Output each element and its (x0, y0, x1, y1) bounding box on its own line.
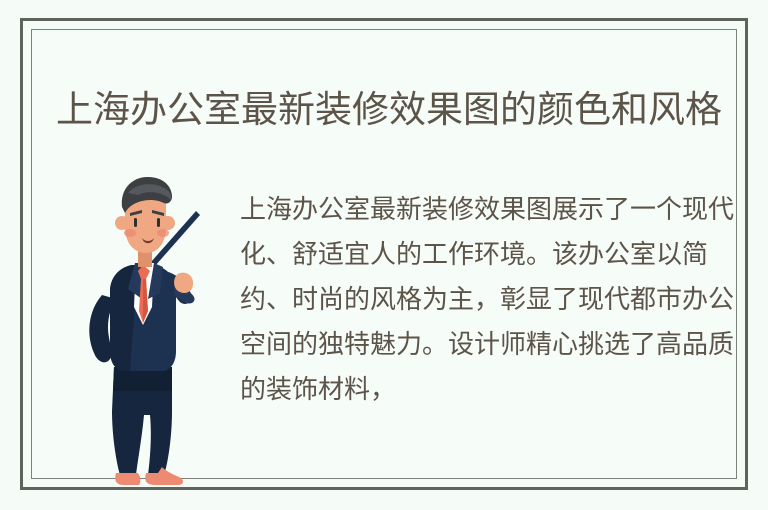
article-content-row: 上海办公室最新装修效果图展示了一个现代化、舒适宜人的工作环境。该办公室以简约、时… (56, 175, 726, 474)
article-body: 上海办公室最新装修效果图展示了一个现代化、舒适宜人的工作环境。该办公室以简约、时… (240, 187, 742, 412)
page-title: 上海办公室最新装修效果图的颜色和风格 (56, 85, 728, 135)
article-card: 上海办公室最新装修效果图的颜色和风格 (20, 18, 748, 490)
article-card-inner-border: 上海办公室最新装修效果图的颜色和风格 (31, 29, 737, 479)
businessman-with-pointer-icon (80, 175, 230, 497)
